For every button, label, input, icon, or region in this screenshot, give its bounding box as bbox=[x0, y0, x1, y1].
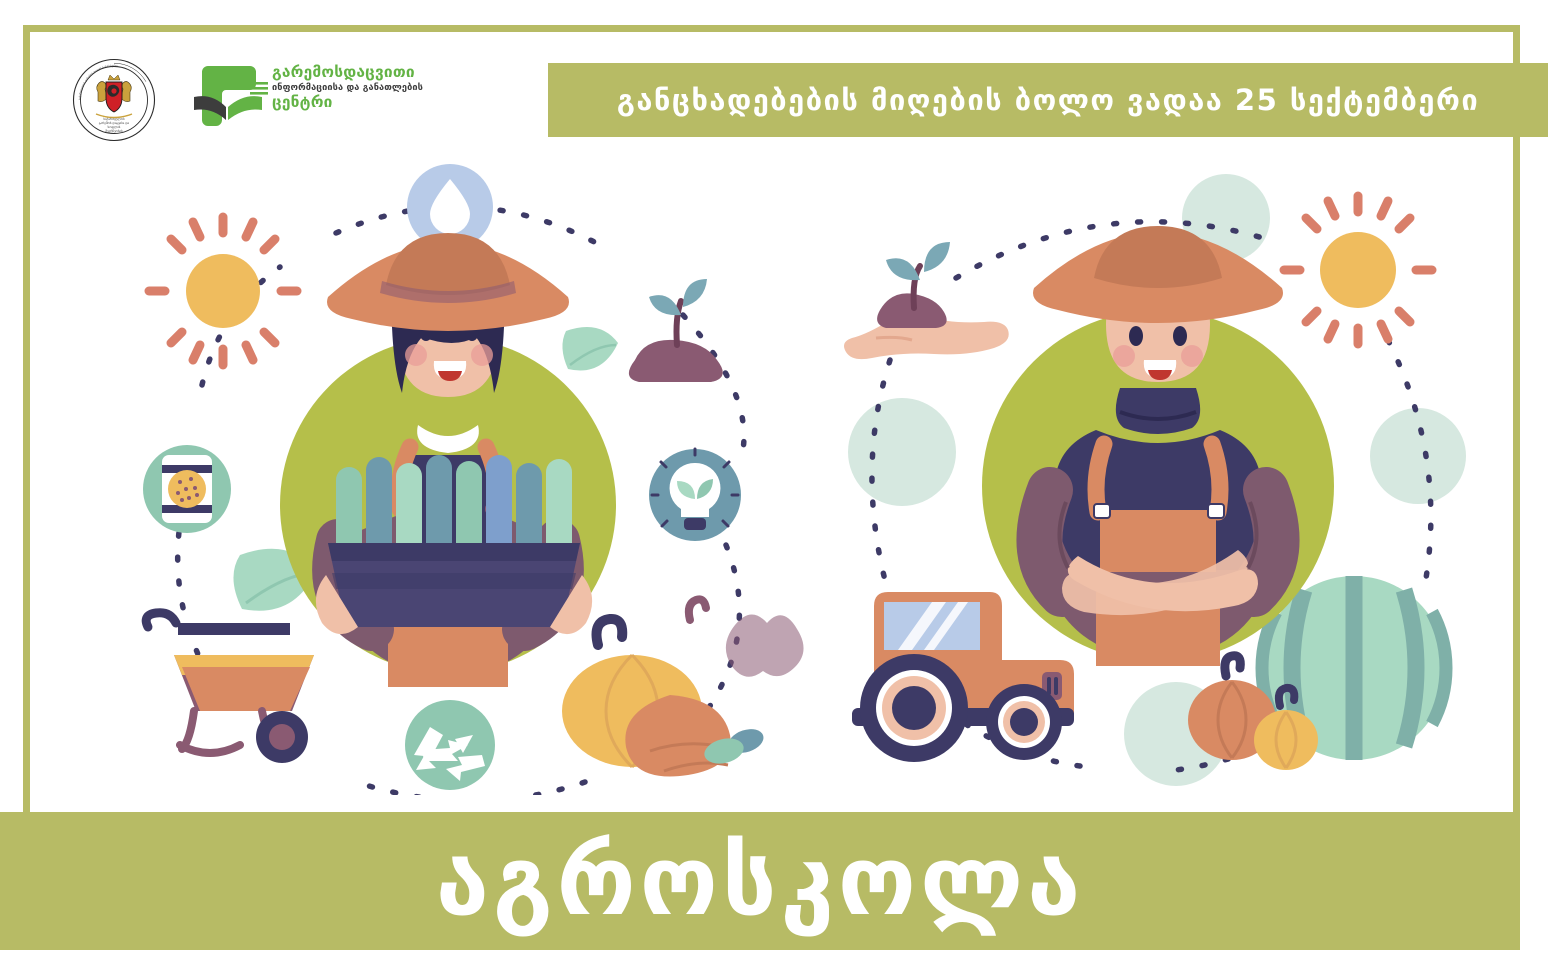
poster-canvas: საქართველოს გარემოს დაცვის სამინისტრო სა… bbox=[0, 0, 1548, 973]
title-band: აგროსკოლა bbox=[0, 812, 1520, 950]
male-farmer-figure bbox=[982, 226, 1334, 666]
eiec-logo-line1: გარემოსდაცვითი bbox=[272, 64, 434, 82]
svg-text:მეურნეობის: მეურნეობის bbox=[105, 129, 123, 133]
right-illustration bbox=[828, 160, 1488, 790]
pumpkin-icon bbox=[562, 599, 804, 776]
hand-seedling-icon bbox=[844, 242, 1009, 359]
jam-jar-icon bbox=[143, 445, 231, 533]
deadline-banner-text: განცხადებების მიღების ბოლო ვადაა 25 სექტ… bbox=[617, 86, 1479, 115]
eiec-logo-line3: ცენტრი bbox=[272, 94, 434, 112]
seedling-soil-icon bbox=[629, 279, 723, 382]
deadline-banner: განცხადებების მიღების ბოლო ვადაა 25 სექტ… bbox=[548, 63, 1548, 137]
wheelbarrow-icon bbox=[146, 613, 314, 763]
page-title: აგროსკოლა bbox=[436, 833, 1084, 929]
leaf-icon bbox=[562, 327, 618, 371]
sun-icon bbox=[1284, 196, 1432, 344]
female-farmer-figure bbox=[280, 233, 616, 687]
tractor-icon bbox=[852, 592, 1074, 762]
recycle-icon bbox=[405, 700, 495, 790]
left-illustration bbox=[130, 155, 810, 795]
state-seal-logo: საქართველოს გარემოს დაცვის სამინისტრო სა… bbox=[72, 58, 156, 142]
eco-bulb-icon bbox=[649, 449, 741, 541]
eiec-book-icon bbox=[192, 64, 270, 134]
eiec-logo: გარემოსდაცვითი ინფორმაციისა და განათლები… bbox=[192, 62, 432, 140]
sun-icon bbox=[149, 217, 297, 365]
